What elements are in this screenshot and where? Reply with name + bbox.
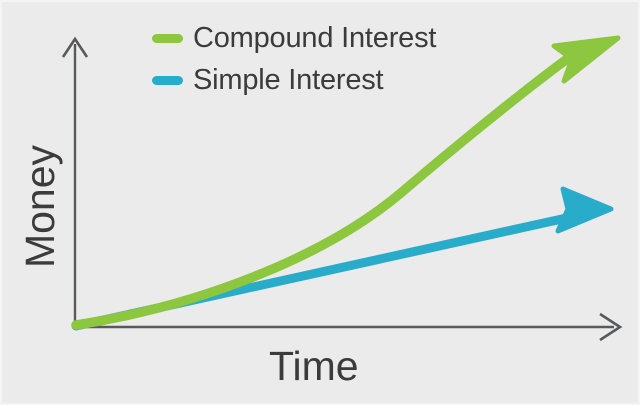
legend-swatch-compound-icon xyxy=(152,34,183,43)
legend-label-simple-interest: Simple Interest xyxy=(193,66,383,95)
x-axis-label: Time xyxy=(269,346,359,387)
legend-label-compound-interest: Compound Interest xyxy=(193,24,436,53)
legend-swatch-simple-icon xyxy=(152,76,183,85)
legend-item-simple-interest[interactable]: Simple Interest xyxy=(152,60,436,100)
chart-container: Compound Interest Simple Interest Time M… xyxy=(0,0,640,405)
chart-legend: Compound Interest Simple Interest xyxy=(152,18,436,100)
legend-item-compound-interest[interactable]: Compound Interest xyxy=(152,18,436,58)
y-axis-label: Money xyxy=(20,145,61,268)
series-arrow-simple-interest xyxy=(558,189,611,231)
